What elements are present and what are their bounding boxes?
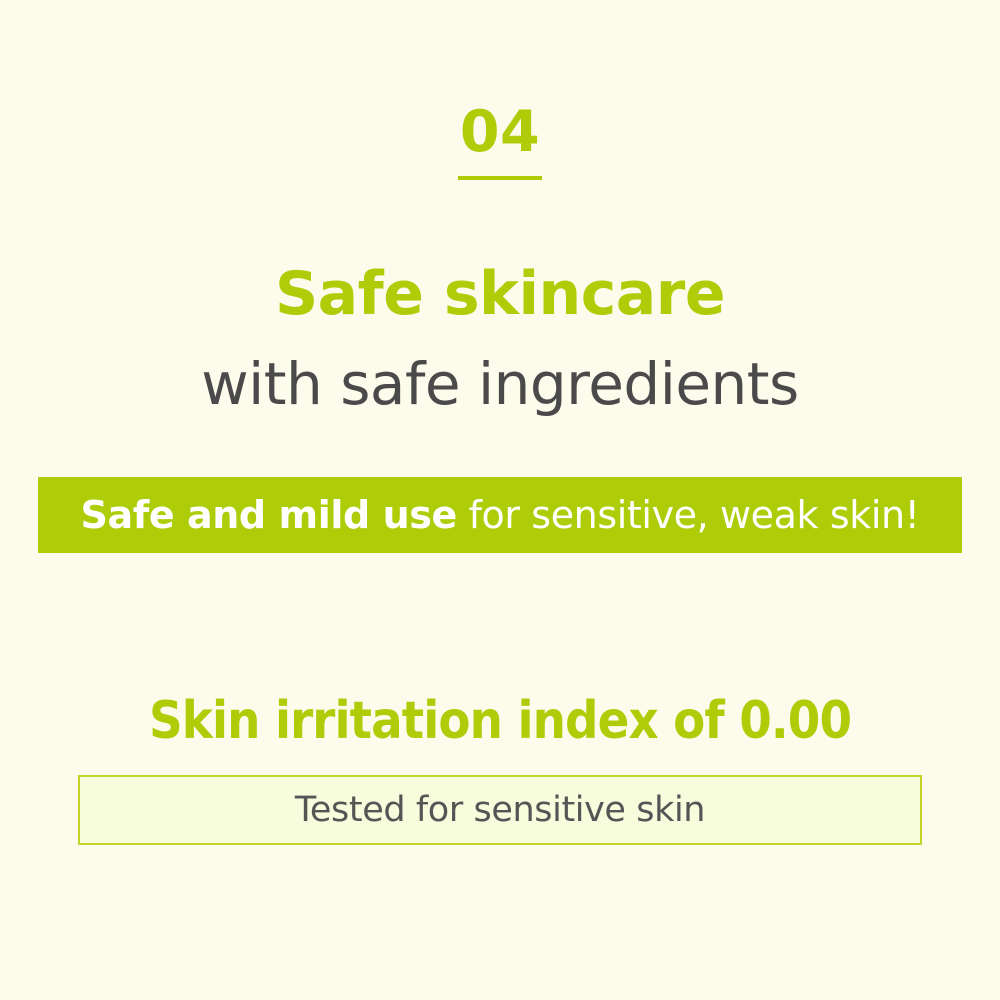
- tested-callout-text: Tested for sensitive skin: [295, 793, 705, 828]
- highlight-banner-rest: for sensitive, weak skin!: [457, 493, 920, 537]
- tested-callout-box: Tested for sensitive skin: [78, 775, 922, 845]
- highlight-banner-strong: Safe and mild use: [80, 493, 456, 537]
- highlight-banner-text: Safe and mild use for sensitive, weak sk…: [80, 496, 919, 534]
- irritation-index-title: Skin irritation index of 0.00: [149, 694, 851, 749]
- headline-sub-line: with safe ingredients: [0, 353, 1000, 416]
- step-number-underline: [458, 176, 542, 180]
- highlight-banner: Safe and mild use for sensitive, weak sk…: [38, 477, 962, 553]
- headline-accent-line: Safe skincare: [0, 262, 1000, 327]
- step-number: 04: [460, 104, 540, 161]
- claim-block: Skin irritation index of 0.00: [0, 694, 1000, 749]
- promo-slide: 04 Safe skincare with safe ingredients S…: [0, 0, 1000, 1000]
- headline-block: Safe skincare with safe ingredients: [0, 262, 1000, 415]
- step-number-block: 04: [0, 104, 1000, 161]
